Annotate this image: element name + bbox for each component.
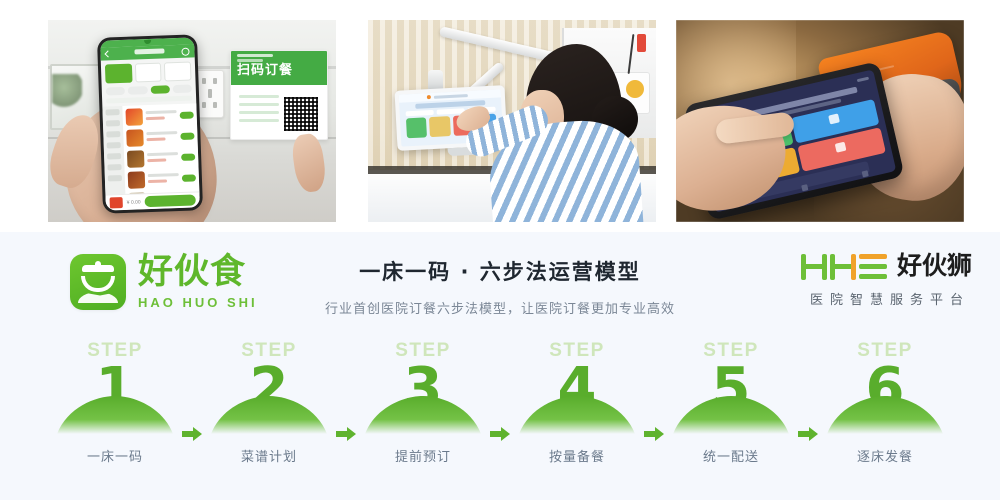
step-hill-icon — [211, 394, 327, 434]
step-hill-icon — [673, 394, 789, 434]
partner-name-cn: 好伙狮 — [897, 253, 972, 279]
brand-haohuoshi-partner: 好伙狮 医院智慧服务平台 — [801, 252, 972, 308]
phone-screen: ¥ 0.00 — [100, 37, 200, 210]
hhs-monogram-icon — [801, 252, 887, 280]
cart-total: ¥ 0.00 — [127, 199, 141, 205]
cart-icon — [110, 197, 123, 208]
step-label: 逐床发餐 — [821, 446, 949, 465]
step-item-5: STEP 5 统一配送 — [667, 340, 795, 480]
step-label: 统一配送 — [667, 446, 795, 465]
step-label: 提前预订 — [359, 446, 487, 465]
step-arrow-1-2 — [179, 426, 205, 442]
photo-handheld-pos-terminal — [676, 20, 964, 222]
arrow-right-icon — [644, 426, 664, 442]
partner-tagline: 医院智慧服务平台 — [801, 289, 972, 308]
qr-code — [282, 95, 320, 133]
header-row: 好伙食 HAO HUO SHI 一床一码 · 六步法运营模型 行业首创医院订餐六… — [0, 232, 1000, 332]
step-label: 按量备餐 — [513, 446, 641, 465]
step-label: 一床一码 — [51, 446, 179, 465]
step-item-2: STEP 2 菜谱计划 — [205, 340, 333, 480]
arrow-right-icon — [490, 426, 510, 442]
step-item-6: STEP 6 逐床发餐 — [821, 340, 949, 480]
step-arrow-4-5 — [641, 426, 667, 442]
arrow-right-icon — [798, 426, 818, 442]
six-step-model: STEP 1 一床一码 STEP — [0, 340, 1000, 490]
plant — [52, 74, 82, 108]
step-hill-icon — [57, 394, 173, 434]
step-label: 菜谱计划 — [205, 446, 333, 465]
scan-to-order-poster: 扫码订餐 — [230, 50, 328, 140]
info-panel: 好伙食 HAO HUO SHI 一床一码 · 六步法运营模型 行业首创医院订餐六… — [0, 232, 1000, 500]
step-hill-icon — [365, 394, 481, 434]
marketing-banner: 扫码订餐 — [0, 0, 1000, 500]
step-arrow-2-3 — [333, 426, 359, 442]
photo-strip: 扫码订餐 — [0, 0, 1000, 232]
arrow-right-icon — [336, 426, 356, 442]
photo-patient-using-bedside-tablet — [368, 20, 656, 222]
photo-patient-ordering-on-phone: 扫码订餐 — [48, 20, 336, 222]
step-item-4: STEP 4 按量备餐 — [513, 340, 641, 480]
step-arrow-5-6 — [795, 426, 821, 442]
step-hill-icon — [519, 394, 635, 434]
wall-socket — [196, 70, 224, 118]
smartphone: ¥ 0.00 — [97, 34, 203, 213]
step-arrow-3-4 — [487, 426, 513, 442]
arrow-right-icon — [182, 426, 202, 442]
submit-order-button — [144, 194, 195, 207]
step-hill-icon — [827, 394, 943, 434]
step-item-1: STEP 1 一床一码 — [51, 340, 179, 480]
step-item-3: STEP 3 提前预订 — [359, 340, 487, 480]
poster-headline: 扫码订餐 — [237, 64, 293, 78]
